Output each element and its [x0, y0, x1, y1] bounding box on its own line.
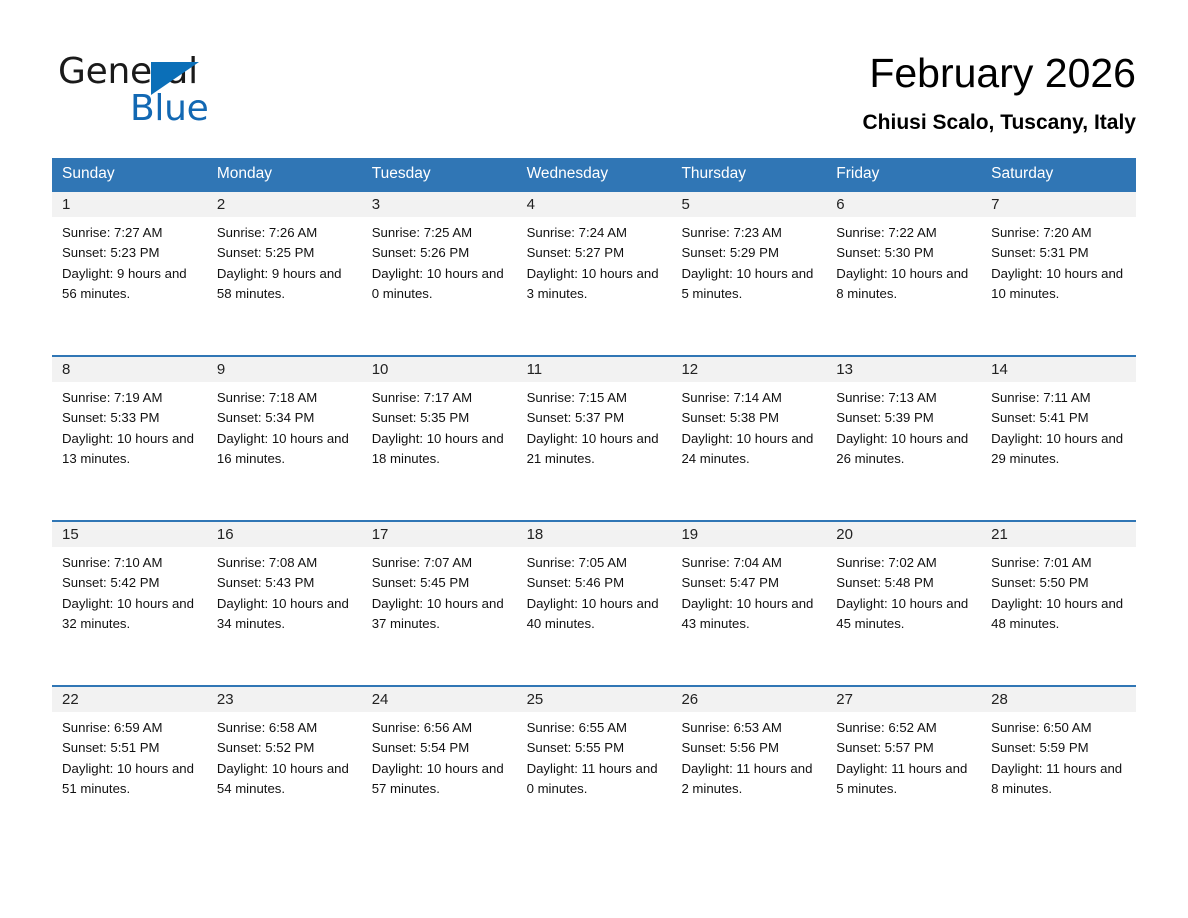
- day-number-bar: 26: [671, 687, 826, 712]
- sunrise-text: Sunrise: 6:52 AM: [836, 718, 973, 738]
- sunset-text: Sunset: 5:38 PM: [681, 408, 818, 428]
- day-details: Sunrise: 6:58 AMSunset: 5:52 PMDaylight:…: [207, 712, 362, 799]
- sunset-text: Sunset: 5:27 PM: [527, 243, 664, 263]
- weekday-header-friday: Friday: [826, 158, 981, 190]
- day-number-bar: 15: [52, 522, 207, 547]
- sunrise-text: Sunrise: 6:58 AM: [217, 718, 354, 738]
- day-details: Sunrise: 7:01 AMSunset: 5:50 PMDaylight:…: [981, 547, 1136, 634]
- weekday-header-monday: Monday: [207, 158, 362, 190]
- sunset-text: Sunset: 5:50 PM: [991, 573, 1128, 593]
- sunset-text: Sunset: 5:42 PM: [62, 573, 199, 593]
- sunrise-text: Sunrise: 7:26 AM: [217, 223, 354, 243]
- daylight-text: Daylight: 10 hours and 21 minutes.: [527, 429, 664, 470]
- day-number: 27: [836, 691, 853, 708]
- day-details: Sunrise: 6:52 AMSunset: 5:57 PMDaylight:…: [826, 712, 981, 799]
- daylight-text: Daylight: 10 hours and 40 minutes.: [527, 594, 664, 635]
- sunset-text: Sunset: 5:33 PM: [62, 408, 199, 428]
- sunset-text: Sunset: 5:46 PM: [527, 573, 664, 593]
- calendar-week-row: 8Sunrise: 7:19 AMSunset: 5:33 PMDaylight…: [52, 355, 1136, 520]
- page-title: February 2026: [436, 48, 1136, 98]
- calendar-day-cell[interactable]: 14Sunrise: 7:11 AMSunset: 5:41 PMDayligh…: [981, 355, 1136, 520]
- day-number: 7: [991, 196, 999, 213]
- daylight-text: Daylight: 10 hours and 5 minutes.: [681, 264, 818, 305]
- day-details: Sunrise: 6:50 AMSunset: 5:59 PMDaylight:…: [981, 712, 1136, 799]
- day-details: Sunrise: 6:55 AMSunset: 5:55 PMDaylight:…: [517, 712, 672, 799]
- day-details: Sunrise: 7:20 AMSunset: 5:31 PMDaylight:…: [981, 217, 1136, 304]
- daylight-text: Daylight: 10 hours and 37 minutes.: [372, 594, 509, 635]
- sunset-text: Sunset: 5:56 PM: [681, 738, 818, 758]
- sunset-text: Sunset: 5:59 PM: [991, 738, 1128, 758]
- sunset-text: Sunset: 5:57 PM: [836, 738, 973, 758]
- sunset-text: Sunset: 5:34 PM: [217, 408, 354, 428]
- sunset-text: Sunset: 5:25 PM: [217, 243, 354, 263]
- day-details: Sunrise: 7:07 AMSunset: 5:45 PMDaylight:…: [362, 547, 517, 634]
- calendar-day-cell[interactable]: 11Sunrise: 7:15 AMSunset: 5:37 PMDayligh…: [517, 355, 672, 520]
- day-number-bar: 10: [362, 357, 517, 382]
- sunrise-text: Sunrise: 7:07 AM: [372, 553, 509, 573]
- sunrise-text: Sunrise: 6:53 AM: [681, 718, 818, 738]
- day-number-bar: 17: [362, 522, 517, 547]
- day-details: Sunrise: 7:17 AMSunset: 5:35 PMDaylight:…: [362, 382, 517, 469]
- calendar-week-row: 15Sunrise: 7:10 AMSunset: 5:42 PMDayligh…: [52, 520, 1136, 685]
- daylight-text: Daylight: 11 hours and 5 minutes.: [836, 759, 973, 800]
- calendar-day-cell[interactable]: 8Sunrise: 7:19 AMSunset: 5:33 PMDaylight…: [52, 355, 207, 520]
- sunrise-text: Sunrise: 7:22 AM: [836, 223, 973, 243]
- day-details: Sunrise: 7:25 AMSunset: 5:26 PMDaylight:…: [362, 217, 517, 304]
- day-number: 4: [527, 196, 535, 213]
- sunrise-text: Sunrise: 7:20 AM: [991, 223, 1128, 243]
- weekday-header-sunday: Sunday: [52, 158, 207, 190]
- daylight-text: Daylight: 10 hours and 10 minutes.: [991, 264, 1128, 305]
- calendar-day-cell[interactable]: 13Sunrise: 7:13 AMSunset: 5:39 PMDayligh…: [826, 355, 981, 520]
- calendar-week-row: 22Sunrise: 6:59 AMSunset: 5:51 PMDayligh…: [52, 685, 1136, 850]
- calendar-page: General Blue February 2026 Chiusi Scalo,…: [0, 0, 1188, 918]
- sunrise-text: Sunrise: 7:24 AM: [527, 223, 664, 243]
- sunrise-text: Sunrise: 7:25 AM: [372, 223, 509, 243]
- day-number-bar: 2: [207, 192, 362, 217]
- day-number: 13: [836, 361, 853, 378]
- day-number-bar: 3: [362, 192, 517, 217]
- day-details: Sunrise: 7:04 AMSunset: 5:47 PMDaylight:…: [671, 547, 826, 634]
- day-number: 8: [62, 361, 70, 378]
- day-number-bar: 27: [826, 687, 981, 712]
- sunset-text: Sunset: 5:35 PM: [372, 408, 509, 428]
- calendar-day-cell[interactable]: 27Sunrise: 6:52 AMSunset: 5:57 PMDayligh…: [826, 685, 981, 850]
- calendar-day-cell[interactable]: 6Sunrise: 7:22 AMSunset: 5:30 PMDaylight…: [826, 190, 981, 355]
- sunrise-text: Sunrise: 7:27 AM: [62, 223, 199, 243]
- day-details: Sunrise: 7:10 AMSunset: 5:42 PMDaylight:…: [52, 547, 207, 634]
- calendar-week-row: 1Sunrise: 7:27 AMSunset: 5:23 PMDaylight…: [52, 190, 1136, 355]
- day-number: 21: [991, 526, 1008, 543]
- day-number-bar: 28: [981, 687, 1136, 712]
- day-number: 15: [62, 526, 79, 543]
- weekday-header-wednesday: Wednesday: [517, 158, 672, 190]
- daylight-text: Daylight: 10 hours and 29 minutes.: [991, 429, 1128, 470]
- weekday-header-saturday: Saturday: [981, 158, 1136, 190]
- day-number-bar: 16: [207, 522, 362, 547]
- day-number: 1: [62, 196, 70, 213]
- day-number: 9: [217, 361, 225, 378]
- sunset-text: Sunset: 5:51 PM: [62, 738, 199, 758]
- day-number: 25: [527, 691, 544, 708]
- calendar-day-cell[interactable]: 2Sunrise: 7:26 AMSunset: 5:25 PMDaylight…: [207, 190, 362, 355]
- day-number: 22: [62, 691, 79, 708]
- calendar-day-cell[interactable]: 22Sunrise: 6:59 AMSunset: 5:51 PMDayligh…: [52, 685, 207, 850]
- day-number: 2: [217, 196, 225, 213]
- day-number: 12: [681, 361, 698, 378]
- sunrise-text: Sunrise: 6:56 AM: [372, 718, 509, 738]
- daylight-text: Daylight: 11 hours and 0 minutes.: [527, 759, 664, 800]
- title-block: February 2026 Chiusi Scalo, Tuscany, Ita…: [436, 48, 1136, 136]
- calendar-day-cell[interactable]: 3Sunrise: 7:25 AMSunset: 5:26 PMDaylight…: [362, 190, 517, 355]
- calendar-day-cell[interactable]: 10Sunrise: 7:17 AMSunset: 5:35 PMDayligh…: [362, 355, 517, 520]
- day-number-bar: 4: [517, 192, 672, 217]
- calendar-day-cell[interactable]: 17Sunrise: 7:07 AMSunset: 5:45 PMDayligh…: [362, 520, 517, 685]
- page-header: General Blue February 2026 Chiusi Scalo,…: [0, 0, 1188, 150]
- sunset-text: Sunset: 5:39 PM: [836, 408, 973, 428]
- day-number-bar: 6: [826, 192, 981, 217]
- sunset-text: Sunset: 5:29 PM: [681, 243, 818, 263]
- calendar-weeks: 1Sunrise: 7:27 AMSunset: 5:23 PMDaylight…: [52, 190, 1136, 850]
- sunset-text: Sunset: 5:43 PM: [217, 573, 354, 593]
- sunrise-text: Sunrise: 7:08 AM: [217, 553, 354, 573]
- day-number-bar: 7: [981, 192, 1136, 217]
- sunrise-text: Sunrise: 7:18 AM: [217, 388, 354, 408]
- day-number: 5: [681, 196, 689, 213]
- sunrise-text: Sunrise: 7:10 AM: [62, 553, 199, 573]
- day-number: 14: [991, 361, 1008, 378]
- daylight-text: Daylight: 9 hours and 56 minutes.: [62, 264, 199, 305]
- day-number-bar: 5: [671, 192, 826, 217]
- calendar-day-cell[interactable]: 25Sunrise: 6:55 AMSunset: 5:55 PMDayligh…: [517, 685, 672, 850]
- sunset-text: Sunset: 5:26 PM: [372, 243, 509, 263]
- calendar-grid: Sunday Monday Tuesday Wednesday Thursday…: [52, 158, 1136, 850]
- sunrise-text: Sunrise: 7:17 AM: [372, 388, 509, 408]
- calendar-day-cell[interactable]: 26Sunrise: 6:53 AMSunset: 5:56 PMDayligh…: [671, 685, 826, 850]
- day-details: Sunrise: 7:14 AMSunset: 5:38 PMDaylight:…: [671, 382, 826, 469]
- day-number-bar: 11: [517, 357, 672, 382]
- day-details: Sunrise: 6:56 AMSunset: 5:54 PMDaylight:…: [362, 712, 517, 799]
- day-number: 26: [681, 691, 698, 708]
- sunrise-text: Sunrise: 7:23 AM: [681, 223, 818, 243]
- day-details: Sunrise: 7:02 AMSunset: 5:48 PMDaylight:…: [826, 547, 981, 634]
- day-details: Sunrise: 7:22 AMSunset: 5:30 PMDaylight:…: [826, 217, 981, 304]
- day-details: Sunrise: 7:08 AMSunset: 5:43 PMDaylight:…: [207, 547, 362, 634]
- daylight-text: Daylight: 9 hours and 58 minutes.: [217, 264, 354, 305]
- sunrise-text: Sunrise: 7:04 AM: [681, 553, 818, 573]
- daylight-text: Daylight: 10 hours and 16 minutes.: [217, 429, 354, 470]
- day-number: 16: [217, 526, 234, 543]
- calendar-day-cell[interactable]: 12Sunrise: 7:14 AMSunset: 5:38 PMDayligh…: [671, 355, 826, 520]
- sunrise-text: Sunrise: 6:55 AM: [527, 718, 664, 738]
- calendar-day-cell[interactable]: 9Sunrise: 7:18 AMSunset: 5:34 PMDaylight…: [207, 355, 362, 520]
- sunset-text: Sunset: 5:41 PM: [991, 408, 1128, 428]
- day-details: Sunrise: 7:05 AMSunset: 5:46 PMDaylight:…: [517, 547, 672, 634]
- sunset-text: Sunset: 5:48 PM: [836, 573, 973, 593]
- daylight-text: Daylight: 11 hours and 2 minutes.: [681, 759, 818, 800]
- day-number: 11: [527, 361, 543, 378]
- day-number: 23: [217, 691, 234, 708]
- sunrise-text: Sunrise: 7:05 AM: [527, 553, 664, 573]
- day-number-bar: 9: [207, 357, 362, 382]
- daylight-text: Daylight: 10 hours and 26 minutes.: [836, 429, 973, 470]
- day-details: Sunrise: 7:27 AMSunset: 5:23 PMDaylight:…: [52, 217, 207, 304]
- sunrise-text: Sunrise: 7:11 AM: [991, 388, 1128, 408]
- calendar-day-cell[interactable]: 20Sunrise: 7:02 AMSunset: 5:48 PMDayligh…: [826, 520, 981, 685]
- calendar-day-cell[interactable]: 28Sunrise: 6:50 AMSunset: 5:59 PMDayligh…: [981, 685, 1136, 850]
- daylight-text: Daylight: 10 hours and 45 minutes.: [836, 594, 973, 635]
- day-number-bar: 1: [52, 192, 207, 217]
- day-number: 20: [836, 526, 853, 543]
- sunset-text: Sunset: 5:52 PM: [217, 738, 354, 758]
- weekday-header-thursday: Thursday: [671, 158, 826, 190]
- calendar-day-cell[interactable]: 1Sunrise: 7:27 AMSunset: 5:23 PMDaylight…: [52, 190, 207, 355]
- day-number: 28: [991, 691, 1008, 708]
- day-number-bar: 22: [52, 687, 207, 712]
- sunset-text: Sunset: 5:54 PM: [372, 738, 509, 758]
- calendar-day-cell[interactable]: 4Sunrise: 7:24 AMSunset: 5:27 PMDaylight…: [517, 190, 672, 355]
- calendar-day-cell[interactable]: 7Sunrise: 7:20 AMSunset: 5:31 PMDaylight…: [981, 190, 1136, 355]
- day-details: Sunrise: 7:11 AMSunset: 5:41 PMDaylight:…: [981, 382, 1136, 469]
- daylight-text: Daylight: 10 hours and 8 minutes.: [836, 264, 973, 305]
- daylight-text: Daylight: 10 hours and 24 minutes.: [681, 429, 818, 470]
- sunrise-text: Sunrise: 7:13 AM: [836, 388, 973, 408]
- daylight-text: Daylight: 10 hours and 0 minutes.: [372, 264, 509, 305]
- day-number-bar: 21: [981, 522, 1136, 547]
- daylight-text: Daylight: 10 hours and 3 minutes.: [527, 264, 664, 305]
- day-number: 24: [372, 691, 389, 708]
- day-number-bar: 13: [826, 357, 981, 382]
- calendar-day-cell[interactable]: 18Sunrise: 7:05 AMSunset: 5:46 PMDayligh…: [517, 520, 672, 685]
- day-details: Sunrise: 7:19 AMSunset: 5:33 PMDaylight:…: [52, 382, 207, 469]
- day-details: Sunrise: 7:13 AMSunset: 5:39 PMDaylight:…: [826, 382, 981, 469]
- day-details: Sunrise: 7:18 AMSunset: 5:34 PMDaylight:…: [207, 382, 362, 469]
- calendar-day-cell[interactable]: 16Sunrise: 7:08 AMSunset: 5:43 PMDayligh…: [207, 520, 362, 685]
- sunset-text: Sunset: 5:23 PM: [62, 243, 199, 263]
- day-details: Sunrise: 7:26 AMSunset: 5:25 PMDaylight:…: [207, 217, 362, 304]
- weekday-header-row: Sunday Monday Tuesday Wednesday Thursday…: [52, 158, 1136, 190]
- logo-text-blue: Blue: [130, 89, 208, 129]
- day-number: 17: [372, 526, 389, 543]
- day-number-bar: 14: [981, 357, 1136, 382]
- daylight-text: Daylight: 10 hours and 43 minutes.: [681, 594, 818, 635]
- sunset-text: Sunset: 5:37 PM: [527, 408, 664, 428]
- sunset-text: Sunset: 5:47 PM: [681, 573, 818, 593]
- sunrise-text: Sunrise: 6:59 AM: [62, 718, 199, 738]
- daylight-text: Daylight: 10 hours and 54 minutes.: [217, 759, 354, 800]
- day-details: Sunrise: 7:15 AMSunset: 5:37 PMDaylight:…: [517, 382, 672, 469]
- sunrise-text: Sunrise: 6:50 AM: [991, 718, 1128, 738]
- day-details: Sunrise: 7:24 AMSunset: 5:27 PMDaylight:…: [517, 217, 672, 304]
- daylight-text: Daylight: 10 hours and 34 minutes.: [217, 594, 354, 635]
- calendar-day-cell[interactable]: 21Sunrise: 7:01 AMSunset: 5:50 PMDayligh…: [981, 520, 1136, 685]
- sunrise-text: Sunrise: 7:01 AM: [991, 553, 1128, 573]
- day-details: Sunrise: 6:59 AMSunset: 5:51 PMDaylight:…: [52, 712, 207, 799]
- day-number: 18: [527, 526, 544, 543]
- day-details: Sunrise: 6:53 AMSunset: 5:56 PMDaylight:…: [671, 712, 826, 799]
- calendar-day-cell[interactable]: 23Sunrise: 6:58 AMSunset: 5:52 PMDayligh…: [207, 685, 362, 850]
- day-number-bar: 12: [671, 357, 826, 382]
- sunrise-text: Sunrise: 7:15 AM: [527, 388, 664, 408]
- daylight-text: Daylight: 10 hours and 57 minutes.: [372, 759, 509, 800]
- day-number-bar: 25: [517, 687, 672, 712]
- sunset-text: Sunset: 5:55 PM: [527, 738, 664, 758]
- sunrise-text: Sunrise: 7:14 AM: [681, 388, 818, 408]
- day-number-bar: 20: [826, 522, 981, 547]
- sunrise-text: Sunrise: 7:02 AM: [836, 553, 973, 573]
- calendar-day-cell[interactable]: 19Sunrise: 7:04 AMSunset: 5:47 PMDayligh…: [671, 520, 826, 685]
- daylight-text: Daylight: 10 hours and 18 minutes.: [372, 429, 509, 470]
- daylight-text: Daylight: 10 hours and 51 minutes.: [62, 759, 199, 800]
- day-number-bar: 18: [517, 522, 672, 547]
- day-details: Sunrise: 7:23 AMSunset: 5:29 PMDaylight:…: [671, 217, 826, 304]
- sunset-text: Sunset: 5:30 PM: [836, 243, 973, 263]
- day-number-bar: 19: [671, 522, 826, 547]
- general-blue-logo[interactable]: General Blue: [58, 52, 258, 132]
- calendar-day-cell[interactable]: 15Sunrise: 7:10 AMSunset: 5:42 PMDayligh…: [52, 520, 207, 685]
- day-number: 3: [372, 196, 380, 213]
- day-number-bar: 23: [207, 687, 362, 712]
- daylight-text: Daylight: 10 hours and 13 minutes.: [62, 429, 199, 470]
- calendar-day-cell[interactable]: 5Sunrise: 7:23 AMSunset: 5:29 PMDaylight…: [671, 190, 826, 355]
- day-number: 10: [372, 361, 389, 378]
- sunrise-text: Sunrise: 7:19 AM: [62, 388, 199, 408]
- sunset-text: Sunset: 5:45 PM: [372, 573, 509, 593]
- page-subtitle: Chiusi Scalo, Tuscany, Italy: [436, 110, 1136, 136]
- weekday-header-tuesday: Tuesday: [362, 158, 517, 190]
- daylight-text: Daylight: 10 hours and 32 minutes.: [62, 594, 199, 635]
- daylight-text: Daylight: 11 hours and 8 minutes.: [991, 759, 1128, 800]
- calendar-day-cell[interactable]: 24Sunrise: 6:56 AMSunset: 5:54 PMDayligh…: [362, 685, 517, 850]
- day-number: 6: [836, 196, 844, 213]
- day-number-bar: 8: [52, 357, 207, 382]
- day-number-bar: 24: [362, 687, 517, 712]
- day-number: 19: [681, 526, 698, 543]
- daylight-text: Daylight: 10 hours and 48 minutes.: [991, 594, 1128, 635]
- sunset-text: Sunset: 5:31 PM: [991, 243, 1128, 263]
